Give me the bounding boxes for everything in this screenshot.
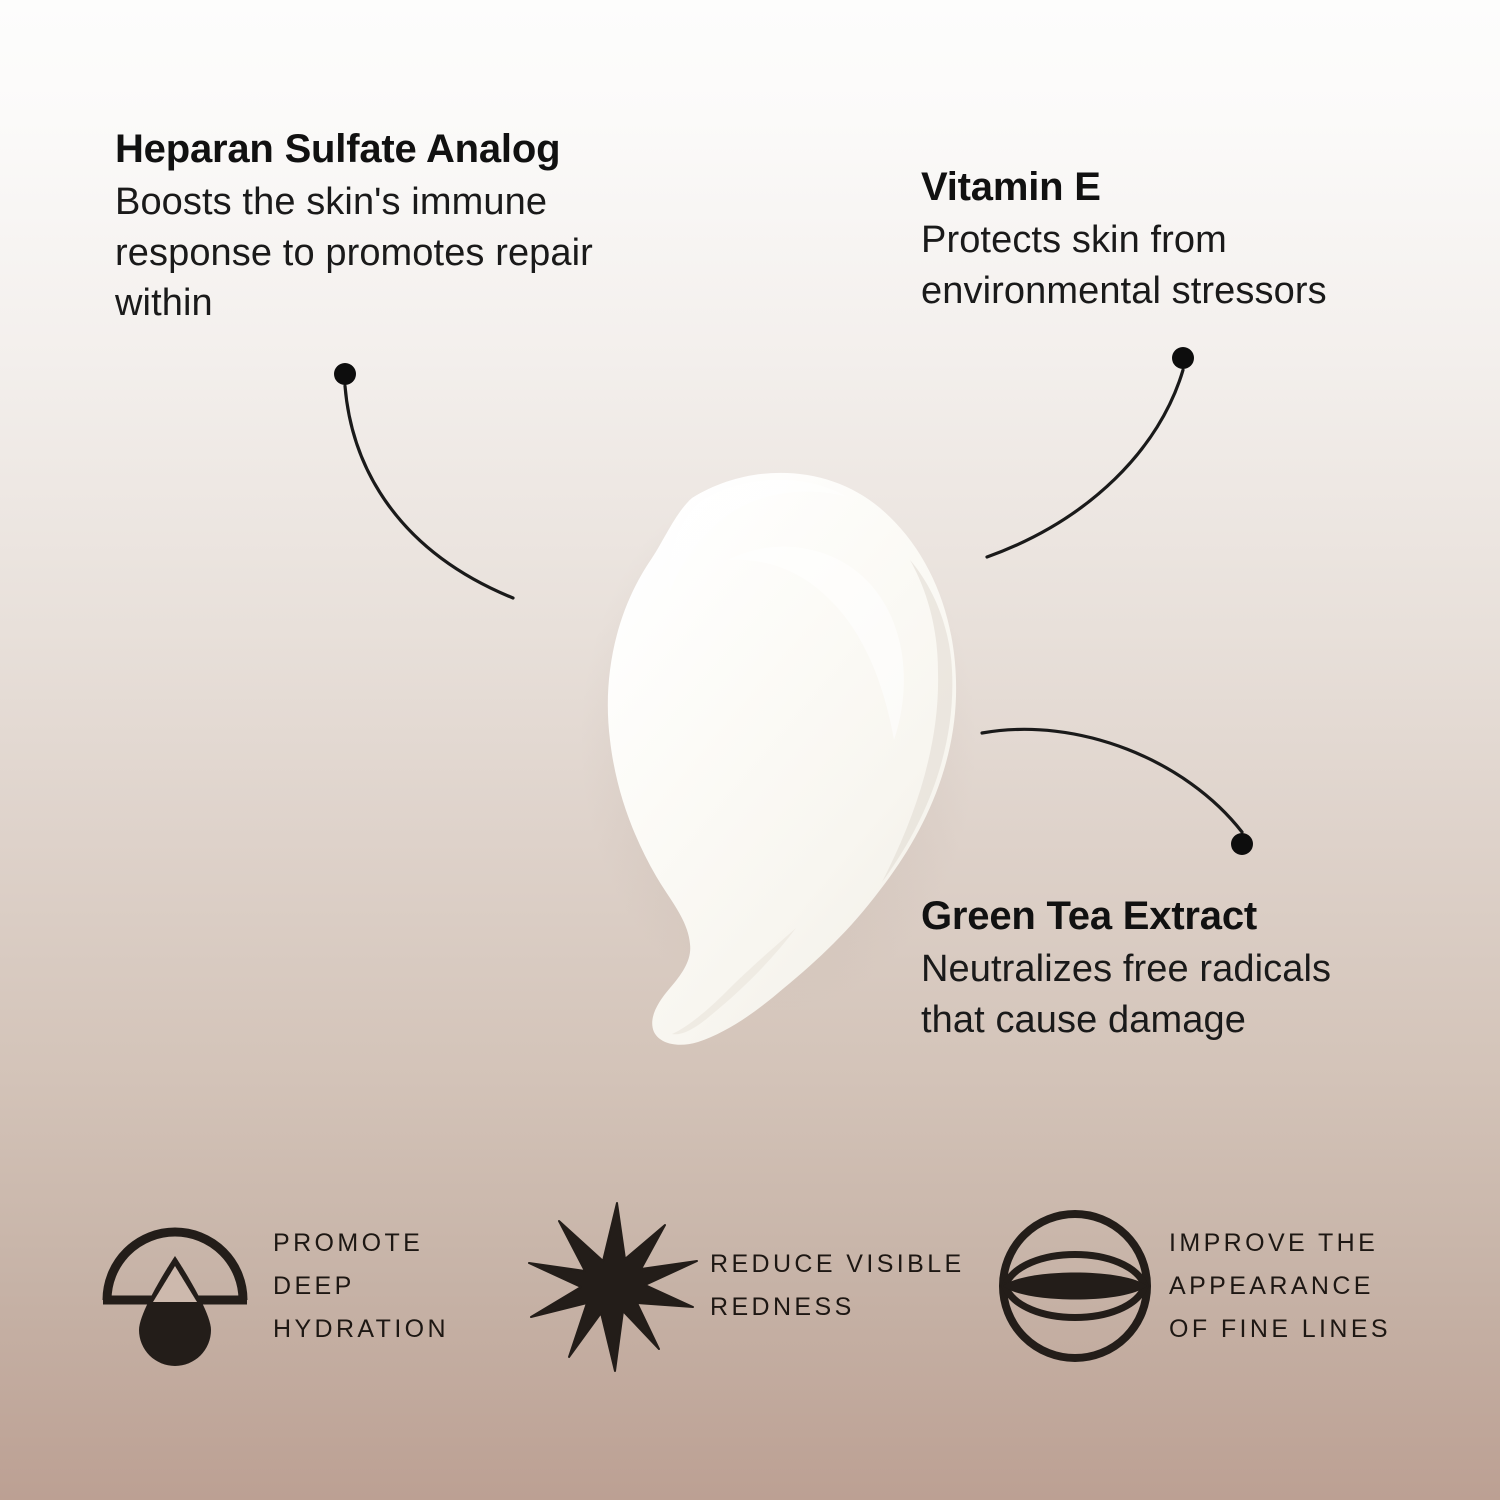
callout-title: Green Tea Extract bbox=[921, 893, 1401, 940]
benefit-label: REDUCE VISIBLE REDNESS bbox=[710, 1243, 965, 1329]
benefits-row: PROMOTE DEEP HYDRATION REDUCE VISIBLE RE… bbox=[95, 1196, 1425, 1376]
starburst-shape bbox=[529, 1203, 697, 1371]
dome-droplet-icon bbox=[95, 1206, 255, 1366]
callout-title: Heparan Sulfate Analog bbox=[115, 126, 695, 173]
connector-line-green-tea bbox=[982, 729, 1242, 832]
connector-dot-heparan bbox=[334, 363, 356, 385]
benefit-label: PROMOTE DEEP HYDRATION bbox=[273, 1222, 449, 1351]
benefit-item-hydration: PROMOTE DEEP HYDRATION bbox=[95, 1196, 525, 1376]
callout-body: Neutralizes free radicals that cause dam… bbox=[921, 944, 1401, 1045]
benefit-label: IMPROVE THE APPEARANCE OF FINE LINES bbox=[1169, 1222, 1391, 1351]
callout-body: Protects skin from environmental stresso… bbox=[921, 215, 1401, 316]
infographic-canvas: Heparan Sulfate Analog Boosts the skin's… bbox=[0, 0, 1500, 1500]
connector-dot-green-tea bbox=[1231, 833, 1253, 855]
callout-body: Boosts the skin's immune response to pro… bbox=[115, 177, 695, 329]
cream-swatch-image bbox=[560, 440, 980, 1060]
callout-heparan-sulfate-analog: Heparan Sulfate Analog Boosts the skin's… bbox=[115, 126, 695, 329]
connector-dot-vitamin-e bbox=[1172, 347, 1194, 369]
connector-line-heparan bbox=[345, 386, 513, 598]
starburst-icon bbox=[525, 1199, 700, 1374]
callout-title: Vitamin E bbox=[921, 164, 1401, 211]
sphere-center-lens bbox=[1003, 1273, 1147, 1300]
connector-line-vitamin-e bbox=[987, 370, 1183, 557]
callout-green-tea-extract: Green Tea Extract Neutralizes free radic… bbox=[921, 893, 1401, 1045]
benefit-item-fine-lines: IMPROVE THE APPEARANCE OF FINE LINES bbox=[995, 1196, 1425, 1376]
lined-sphere-icon bbox=[995, 1206, 1155, 1366]
callout-vitamin-e: Vitamin E Protects skin from environment… bbox=[921, 164, 1401, 316]
benefit-item-redness: REDUCE VISIBLE REDNESS bbox=[525, 1196, 995, 1376]
